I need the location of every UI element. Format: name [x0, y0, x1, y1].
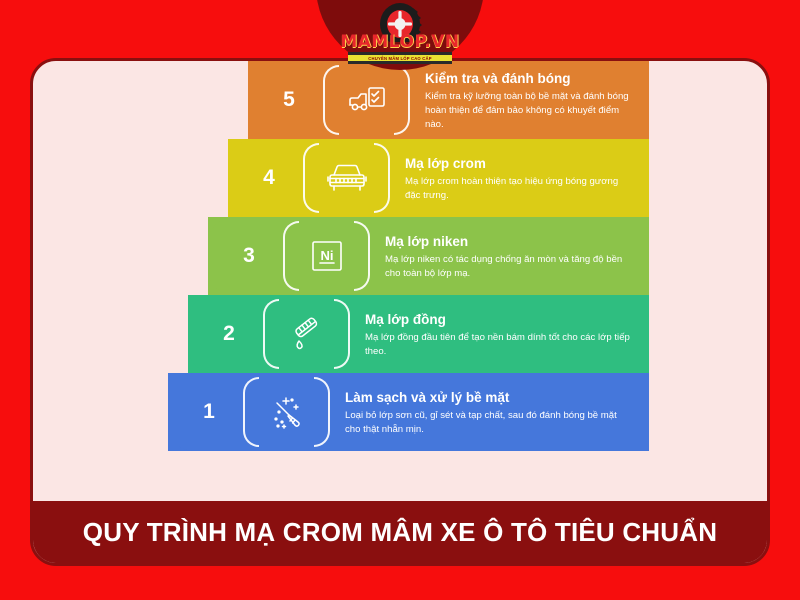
step-title-2: Mạ lớp đồng — [365, 312, 633, 328]
step-item-3[interactable]: 3 Ni Mạ lớp niken Mạ lớp niken có tác dụ… — [208, 217, 649, 295]
car-checklist-icon — [347, 83, 387, 117]
step-description-1: Loại bỏ lớp sơn cũ, gỉ sét và tạp chất, … — [345, 409, 633, 436]
infographic-card: 5 Kiểm tra và đánh bóng Kiểm tra kỹ lưỡn… — [30, 58, 770, 566]
step-icon-box-1 — [250, 373, 323, 451]
step-text-3: Mạ lớp niken Mạ lớp niken có tác dụng ch… — [363, 217, 649, 295]
broom-sparkle-icon — [267, 392, 307, 432]
step-text-1: Làm sạch và xử lý bề mặt Loại bỏ lớp sơn… — [323, 373, 649, 451]
steps-list: 5 Kiểm tra và đánh bóng Kiểm tra kỹ lưỡn… — [33, 61, 767, 501]
step-title-4: Mạ lớp crom — [405, 156, 633, 172]
brand-badge: MAMLOP.VN CHUYÊN MÂM LỐP CAO CẤP — [316, 0, 484, 70]
step-description-5: Kiểm tra kỹ lưỡng toàn bộ bề mặt và đánh… — [425, 90, 633, 131]
step-item-1[interactable]: 1 Làm sạch và xử lý bề mặ — [168, 373, 649, 451]
step-icon-box-2 — [270, 295, 343, 373]
step-item-4[interactable]: 4 Mạ lớp crom Mạ lớp crom hoàn thiện tạo… — [228, 139, 649, 217]
brush-droplet-icon — [288, 315, 326, 353]
step-description-2: Mạ lớp đồng đầu tiên để tạo nền bám dính… — [365, 331, 633, 358]
step-icon-box-3: Ni — [290, 217, 363, 295]
step-description-4: Mạ lớp crom hoàn thiện tạo hiệu ứng bóng… — [405, 175, 633, 202]
step-item-2[interactable]: 2 Mạ lớp đồng Mạ lớp đồng đầu tiên để tạ… — [188, 295, 649, 373]
step-title-5: Kiểm tra và đánh bóng — [425, 71, 633, 87]
car-front-grille-icon — [326, 162, 368, 194]
step-number-4: 4 — [263, 166, 275, 190]
logo-strip: CHUYÊN MÂM LỐP CAO CẤP — [348, 52, 452, 64]
step-description-3: Mạ lớp niken có tác dụng chống ăn mòn và… — [385, 253, 633, 280]
step-number-box-3: 3 — [208, 217, 290, 295]
step-number-1: 1 — [203, 400, 215, 424]
step-icon-box-5 — [330, 61, 403, 139]
step-number-3: 3 — [243, 244, 255, 268]
logo-wordmark: MAMLOP.VN — [340, 34, 459, 51]
step-text-2: Mạ lớp đồng Mạ lớp đồng đầu tiên để tạo … — [343, 295, 649, 373]
banner-title: QUY TRÌNH MẠ CROM MÂM XE Ô TÔ TIÊU CHUẨN — [83, 517, 717, 548]
logo-strip-text: CHUYÊN MÂM LỐP CAO CẤP — [368, 56, 431, 61]
nickel-element-icon: Ni — [309, 238, 345, 274]
step-text-4: Mạ lớp crom Mạ lớp crom hoàn thiện tạo h… — [383, 139, 649, 217]
step-number-2: 2 — [223, 322, 235, 346]
step-icon-box-4 — [310, 139, 383, 217]
step-title-1: Làm sạch và xử lý bề mặt — [345, 390, 633, 406]
step-number-box-4: 4 — [228, 139, 310, 217]
svg-text:Ni: Ni — [320, 248, 333, 263]
bottom-banner: QUY TRÌNH MẠ CROM MÂM XE Ô TÔ TIÊU CHUẨN — [33, 501, 767, 563]
step-number-box-2: 2 — [188, 295, 270, 373]
step-text-5: Kiểm tra và đánh bóng Kiểm tra kỹ lưỡng … — [403, 61, 649, 139]
step-item-5[interactable]: 5 Kiểm tra và đánh bóng Kiểm tra kỹ lưỡn… — [248, 61, 649, 139]
step-number-5: 5 — [283, 88, 295, 112]
step-number-box-1: 1 — [168, 373, 250, 451]
step-number-box-5: 5 — [248, 61, 330, 139]
logo: MAMLOP.VN CHUYÊN MÂM LỐP CAO CẤP — [340, 34, 460, 64]
step-title-3: Mạ lớp niken — [385, 234, 633, 250]
